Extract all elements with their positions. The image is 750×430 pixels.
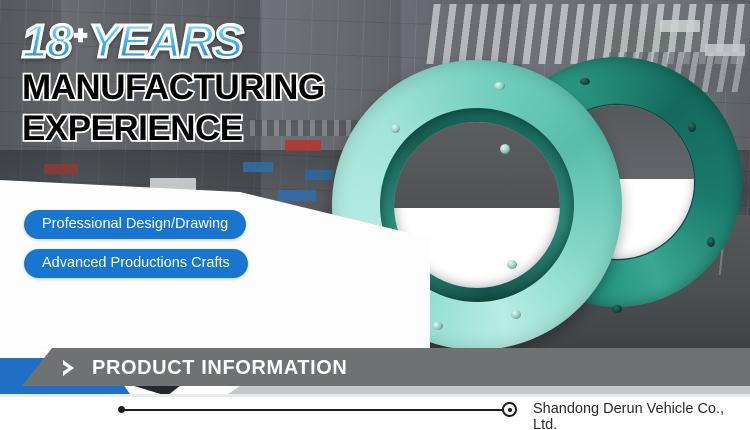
bolt-hole (500, 144, 510, 154)
feature-badge-list: Professional Design/Drawing Advanced Pro… (24, 210, 248, 288)
years-row: 18 + YEARS (22, 18, 325, 66)
truck-trailer (44, 164, 78, 174)
bolt-hole (507, 260, 517, 269)
chevron-right-icon (60, 358, 82, 378)
bolt-hole (391, 124, 400, 133)
section-title: PRODUCT INFORMATION (92, 357, 347, 380)
company-name: Shandong Derun Vehicle Co., Ltd. (533, 401, 750, 430)
badge-label: Professional Design/Drawing (42, 216, 228, 232)
bolt-hole (511, 310, 521, 319)
truck-trailer (660, 20, 700, 32)
bus-vehicle (278, 190, 316, 201)
headline-block: 18 + YEARS MANUFACTURING EXPERIENCE (22, 18, 325, 148)
target-dot-icon (502, 402, 517, 417)
headline-line-experience: EXPERIENCE (22, 110, 325, 148)
bolt-hole (580, 78, 590, 85)
badge-professional-design[interactable]: Professional Design/Drawing (24, 210, 246, 239)
years-number: 18 (22, 18, 71, 64)
product-information-bar: PRODUCT INFORMATION (0, 348, 750, 394)
footer-divider (0, 394, 750, 397)
bolt-hole (707, 237, 715, 247)
bolt-hole (494, 82, 505, 90)
truck-trailer (243, 162, 273, 172)
years-label: YEARS (89, 18, 242, 64)
bolt-hole (612, 305, 622, 313)
badge-label: Advanced Productions Crafts (42, 255, 230, 271)
footer-bar: Shandong Derun Vehicle Co., Ltd. (0, 394, 750, 430)
banner-stage: 18 + YEARS MANUFACTURING EXPERIENCE Prof… (0, 0, 750, 430)
bolt-hole (432, 322, 443, 330)
years-plus-symbol: + (74, 25, 87, 47)
badge-advanced-productions[interactable]: Advanced Productions Crafts (24, 249, 248, 278)
footer-connector-line (122, 409, 508, 411)
bolt-hole (688, 122, 696, 132)
headline-line-manufacturing: MANUFACTURING (22, 69, 325, 107)
bar-light-gray-strip (228, 386, 750, 394)
